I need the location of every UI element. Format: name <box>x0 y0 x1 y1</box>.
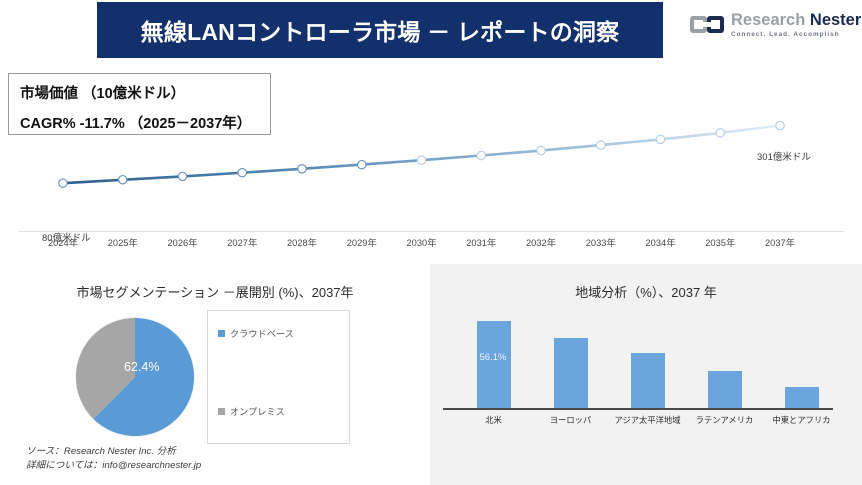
year-label: 2029年 <box>347 235 377 249</box>
bar-category-label: 中東とアフリカ <box>772 414 830 426</box>
year-label: 2025年 <box>108 235 138 249</box>
trend-point <box>477 151 485 159</box>
pie-legend: クラウドベース オンプレミス <box>218 326 343 418</box>
deployment-pie-chart: 62.4% <box>72 314 198 440</box>
year-label: 2026年 <box>168 235 198 249</box>
year-label: 2024年 <box>48 235 78 249</box>
bar-chart-category-labels: 北米ヨーロッパアジア太平洋地域ラテンアメリカ中東とアフリカ <box>455 414 840 430</box>
regional-panel-title: 地域分析（%）、2037 年 <box>430 282 862 301</box>
year-label: 2034年 <box>646 235 676 249</box>
bar[interactable] <box>785 387 819 408</box>
bar-category-label: アジア太平洋地域 <box>614 414 680 426</box>
line-chart-year-labels: 2024年2025年2026年2027年2028年2029年2030年2031年… <box>18 235 844 251</box>
year-label: 2030年 <box>407 235 437 249</box>
legend-swatch-icon-cloud <box>218 330 225 337</box>
legend-item-onpremise[interactable]: オンプレミス <box>218 404 343 418</box>
market-value-line-chart: 80億米ドル 301億米ドル <box>0 60 862 256</box>
bar-chart-axis <box>443 408 833 410</box>
trend-point <box>178 172 186 180</box>
trend-point <box>358 160 366 168</box>
year-label: 2031年 <box>466 235 496 249</box>
line-chart-svg <box>0 60 862 256</box>
legend-swatch-icon-onpremise <box>218 408 225 415</box>
logo-text: Research Nester Connect. Lead. Accomplis… <box>731 12 861 38</box>
bar-category-label: ラテンアメリカ <box>696 414 754 426</box>
pie-value-label: 62.4% <box>124 360 159 374</box>
trend-point <box>537 146 545 154</box>
bar[interactable] <box>554 338 588 408</box>
page-title-banner: 無線LANコントローラ市場 － レポートの洞察 <box>97 2 663 58</box>
logo-name-first: Research <box>731 11 805 29</box>
bar-value-label: 56.1% <box>480 352 507 363</box>
pie-svg <box>72 314 198 440</box>
logo-name: Research Nester <box>731 12 861 29</box>
footer-source-line: ソース：Research Nester Inc. 分析 <box>26 445 201 459</box>
trend-point <box>119 176 127 184</box>
source-footer: ソース：Research Nester Inc. 分析 詳細については：info… <box>26 445 201 473</box>
bar[interactable] <box>631 353 665 408</box>
year-label: 2035年 <box>705 235 735 249</box>
logo-tagline: Connect. Lead. Accomplish <box>731 32 861 38</box>
legend-label-onpremise: オンプレミス <box>230 404 285 418</box>
trend-point <box>417 156 425 164</box>
trend-point <box>597 141 605 149</box>
end-value-label: 301億米ドル <box>757 149 811 163</box>
footer-contact-line: 詳細については：info@researchnester.jp <box>26 459 201 473</box>
logo-name-second: Nester <box>810 11 861 29</box>
trend-point <box>656 135 664 143</box>
line-chart-axis <box>18 231 844 232</box>
regional-bar-chart: 56.1% <box>455 312 840 408</box>
bar-category-label: ヨーロッパ <box>550 414 592 426</box>
segmentation-panel-title: 市場セグメンテーション －展開別 (%)、2037年 <box>0 282 430 301</box>
trend-point <box>776 121 784 129</box>
bar[interactable] <box>708 371 742 408</box>
page-title: 無線LANコントローラ市場 － レポートの洞察 <box>141 13 620 47</box>
legend-item-cloud[interactable]: クラウドベース <box>218 326 343 340</box>
trend-point <box>298 165 306 173</box>
legend-label-cloud: クラウドベース <box>230 326 294 340</box>
brand-logo: Research Nester Connect. Lead. Accomplis… <box>690 12 861 38</box>
research-nester-link-logo-icon <box>690 12 724 37</box>
trend-point <box>716 129 724 137</box>
year-label: 2033年 <box>586 235 616 249</box>
bar[interactable]: 56.1% <box>477 321 511 408</box>
bar-category-label: 北米 <box>485 414 502 426</box>
year-label: 2028年 <box>287 235 317 249</box>
year-label: 2037年 <box>765 235 795 249</box>
trend-point <box>59 179 67 187</box>
header-band: 無線LANコントローラ市場 － レポートの洞察 Research Nester … <box>0 0 862 60</box>
year-label: 2032年 <box>526 235 556 249</box>
trend-line <box>63 126 780 184</box>
year-label: 2027年 <box>227 235 257 249</box>
report-infographic-page: 無線LANコントローラ市場 － レポートの洞察 Research Nester … <box>0 0 862 485</box>
trend-point <box>238 169 246 177</box>
